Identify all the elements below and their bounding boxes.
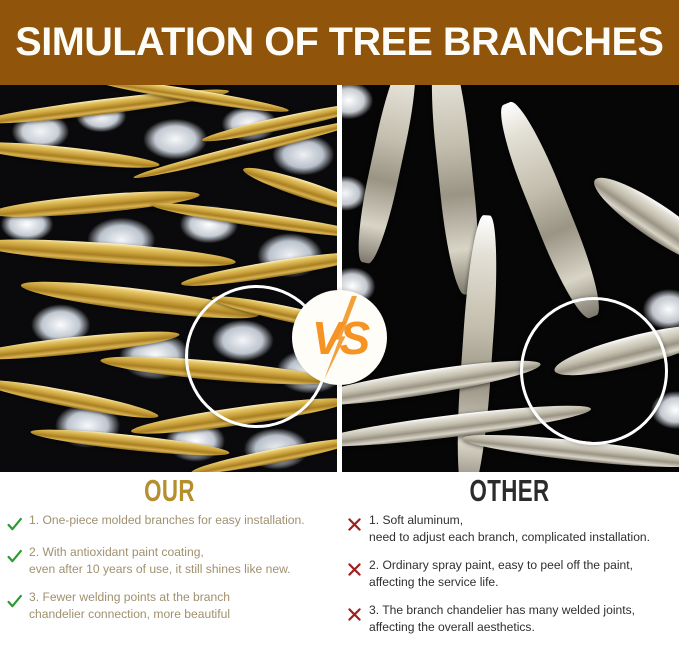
bullet-text: 1. Soft aluminum, need to adjust each br… bbox=[369, 512, 650, 546]
x-icon bbox=[346, 606, 363, 623]
bullet-list-ours: 1. One-piece molded branches for easy in… bbox=[0, 512, 339, 624]
column-heading-other: OTHER bbox=[387, 475, 631, 508]
bullet-text: 3. Fewer welding points at the branch ch… bbox=[29, 589, 230, 623]
list-item: 2. With antioxidant paint coating, even … bbox=[0, 544, 339, 578]
list-item: 1. One-piece molded branches for easy in… bbox=[0, 512, 339, 533]
column-heading-ours: OUR bbox=[47, 475, 291, 508]
column-other: OTHER 1. Soft aluminum, need to adjust e… bbox=[340, 472, 679, 661]
photo-ours-gold-branches bbox=[0, 85, 337, 472]
vs-badge: VS bbox=[292, 290, 387, 385]
bullet-list-other: 1. Soft aluminum, need to adjust each br… bbox=[340, 512, 679, 637]
bullet-text: 2. With antioxidant paint coating, even … bbox=[29, 544, 291, 578]
list-item: 2. Ordinary spray paint, easy to peel of… bbox=[340, 557, 679, 591]
comparison-text-section: OUR 1. One-piece molded branches for eas… bbox=[0, 472, 679, 661]
photo-other-silver-branches bbox=[342, 85, 679, 472]
photo-comparison-strip: VS bbox=[0, 85, 679, 472]
x-icon bbox=[346, 516, 363, 533]
bullet-text: 2. Ordinary spray paint, easy to peel of… bbox=[369, 557, 633, 591]
check-icon bbox=[6, 516, 23, 533]
list-item: 3. Fewer welding points at the branch ch… bbox=[0, 589, 339, 623]
bullet-text: 3. The branch chandelier has many welded… bbox=[369, 602, 635, 636]
check-icon bbox=[6, 593, 23, 610]
check-icon bbox=[6, 548, 23, 565]
list-item: 3. The branch chandelier has many welded… bbox=[340, 602, 679, 636]
vs-label: VS bbox=[312, 315, 367, 361]
column-ours: OUR 1. One-piece molded branches for eas… bbox=[0, 472, 339, 661]
product-comparison-infographic: SIMULATION OF TREE BRANCHES bbox=[0, 0, 679, 661]
header-banner: SIMULATION OF TREE BRANCHES bbox=[0, 0, 679, 85]
list-item: 1. Soft aluminum, need to adjust each br… bbox=[340, 512, 679, 546]
x-icon bbox=[346, 561, 363, 578]
bullet-text: 1. One-piece molded branches for easy in… bbox=[29, 512, 305, 529]
page-title: SIMULATION OF TREE BRANCHES bbox=[15, 20, 663, 65]
